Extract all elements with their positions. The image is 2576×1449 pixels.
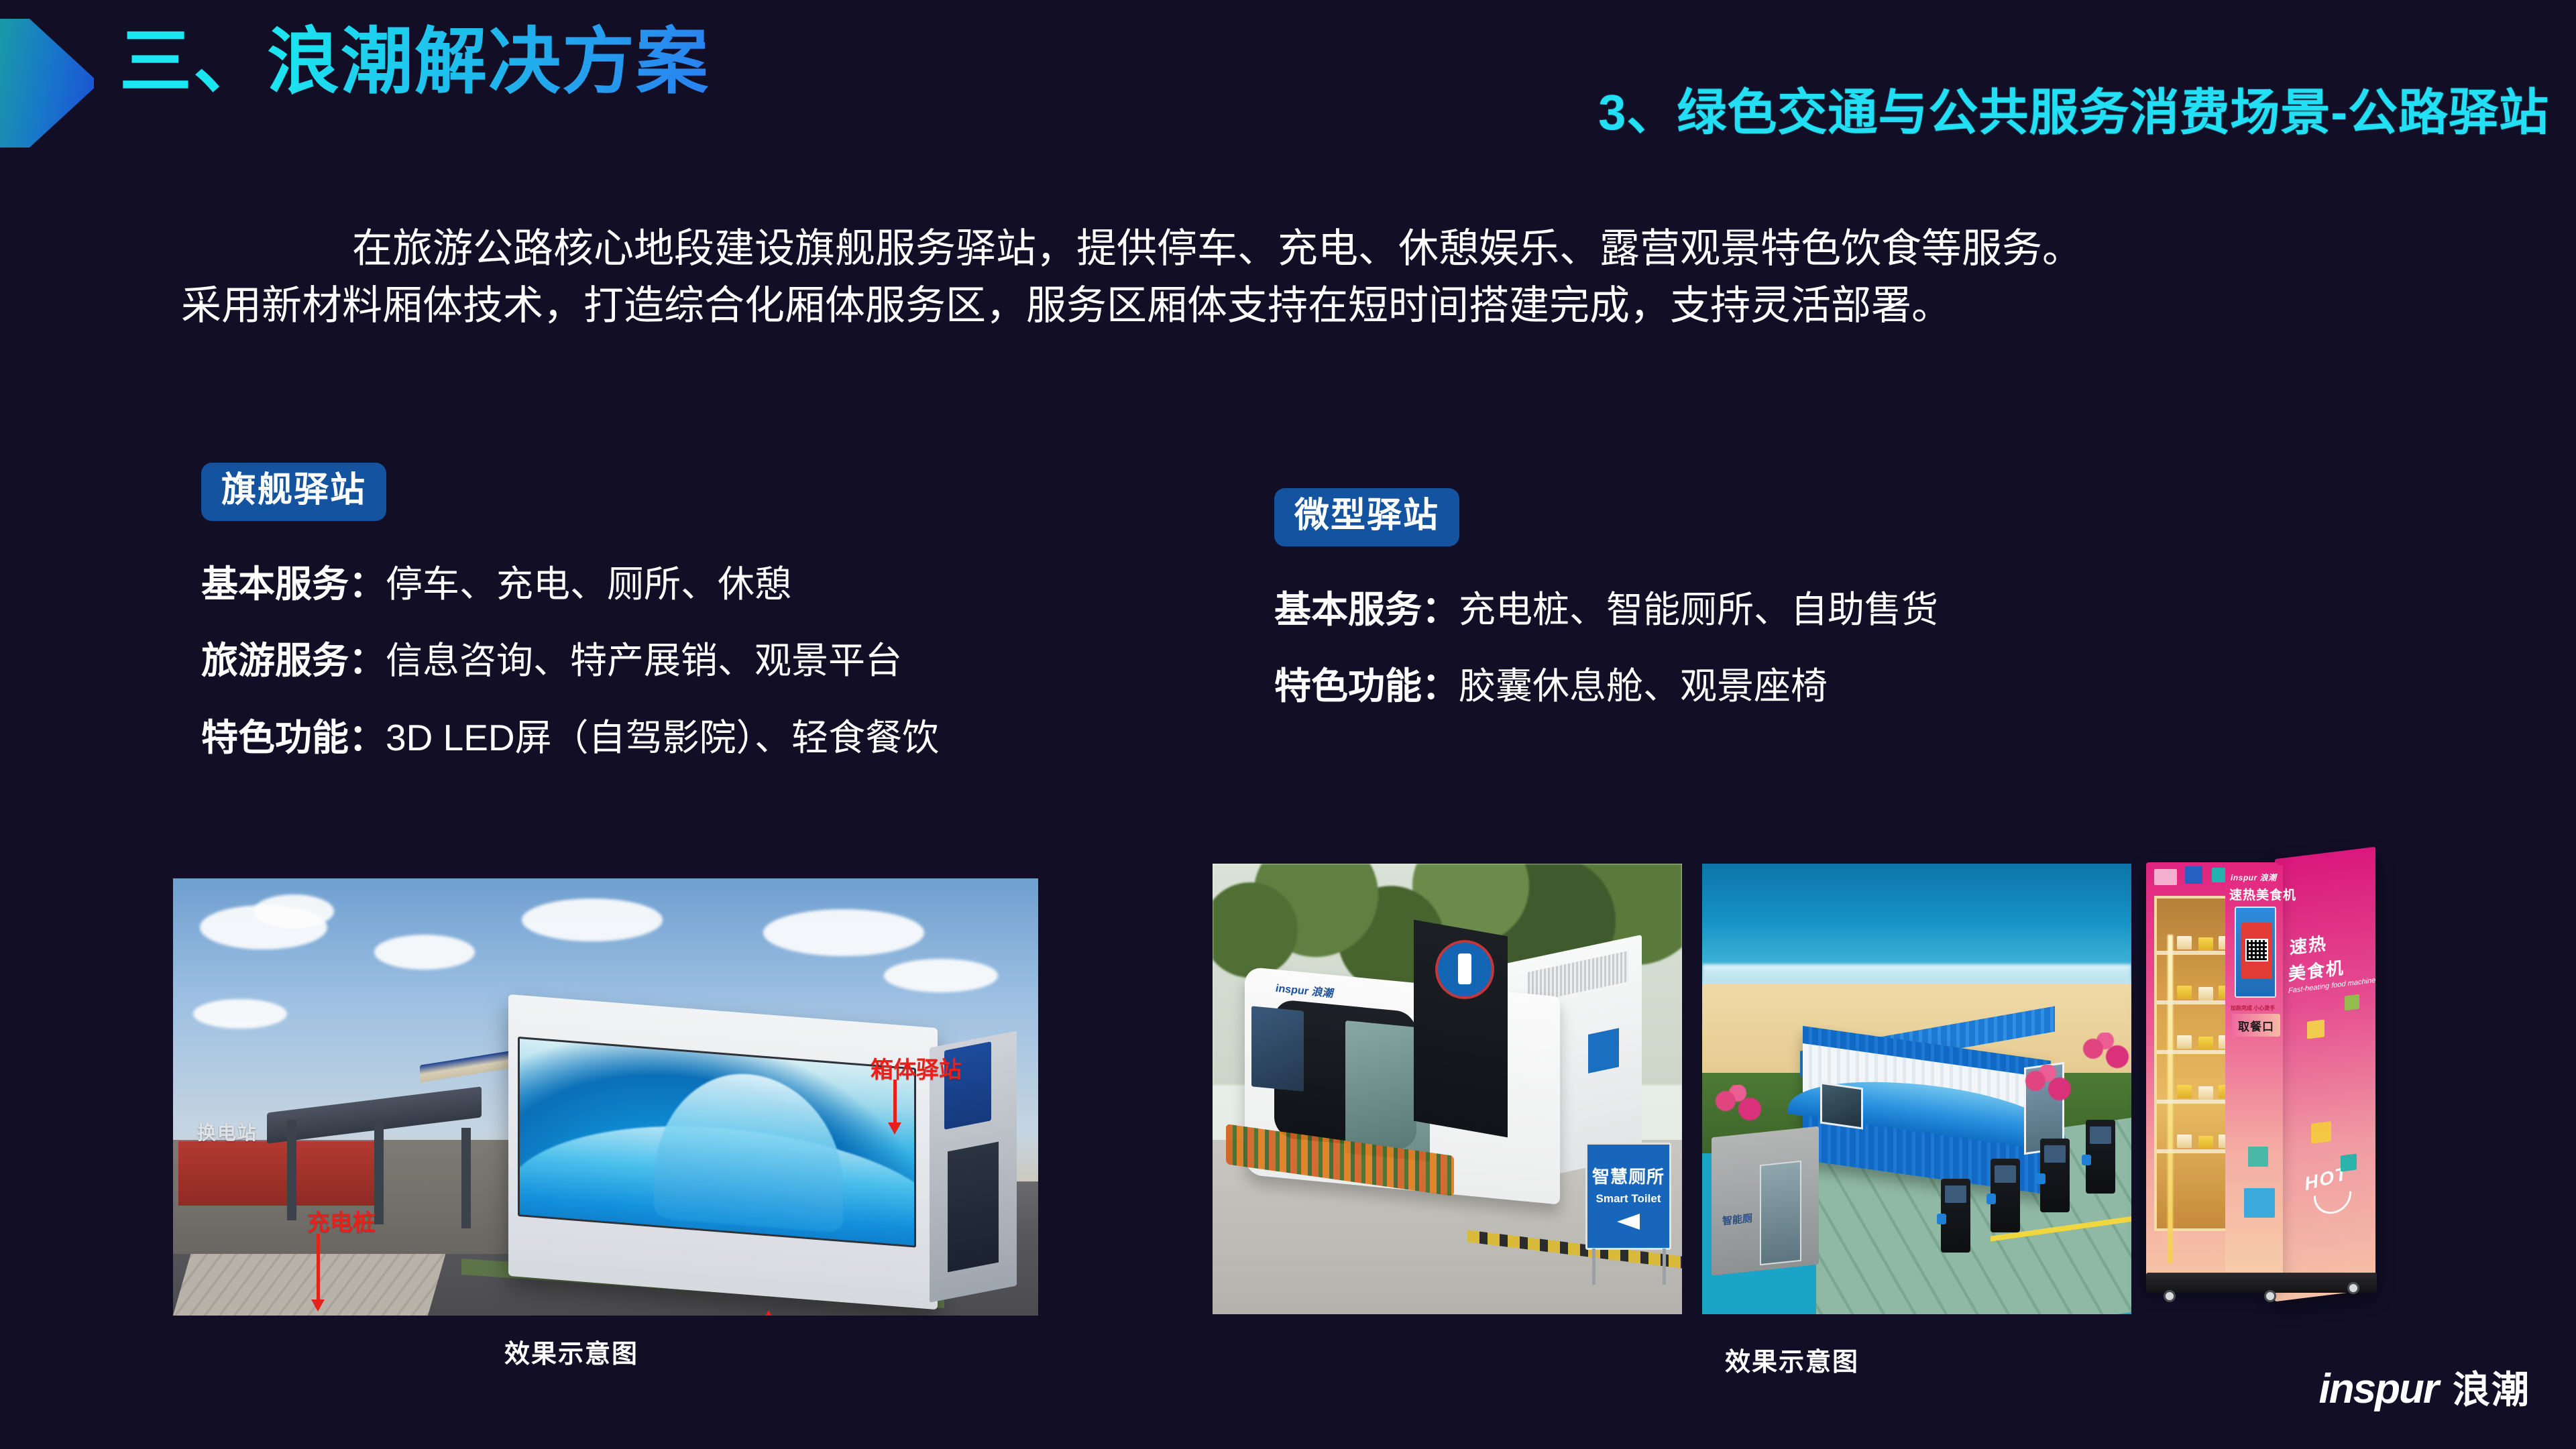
column-flagship: 旗舰驿站 基本服务：停车、充电、厕所、休憩 旅游服务：信息咨询、特产展销、观景平…: [201, 463, 1207, 792]
vending-touch-screen[interactable]: [2235, 907, 2276, 998]
charging-pile: [2086, 1120, 2115, 1194]
sign-board-legs: [1592, 1249, 1666, 1285]
flower-cluster: [2075, 1033, 2131, 1073]
vending-item: [2198, 987, 2213, 1000]
service-key: 旅游服务：: [201, 640, 386, 681]
vending-base: [2146, 1273, 2377, 1293]
vending-item: [2177, 936, 2192, 949]
corner-arrow-decoration: [0, 19, 94, 148]
inspur-logo-on-unit: inspur 浪潮: [1276, 979, 1333, 1000]
smart-toilet-sign-board: 智慧厕所 Smart Toilet: [1585, 1143, 1671, 1250]
service-list-flagship: 基本服务：停车、充电、厕所、休憩 旅游服务：信息咨询、特产展销、观景平台 特色功…: [201, 561, 1207, 761]
sign-text-cn: 智慧厕所: [1592, 1163, 1665, 1188]
service-key: 特色功能：: [201, 717, 386, 758]
service-row: 旅游服务：信息咨询、特产展销、观景平台: [201, 638, 1207, 684]
render-pillar: [287, 1120, 296, 1220]
intro-line-1: 在旅游公路核心地段建设旗舰服务驿站，提供停车、充电、休憩娱乐、露营观景特色饮食等…: [168, 220, 2401, 277]
vending-item: [2198, 937, 2213, 951]
figure-caption-beach: 效果示意图: [1725, 1341, 1859, 1378]
vending-side-panel: [2275, 847, 2375, 1301]
render-led-screen: [518, 1037, 916, 1248]
vending-item: [2198, 1037, 2213, 1050]
vending-pickup-slot[interactable]: 取餐口: [2232, 1014, 2280, 1037]
deco-square: [2311, 1121, 2331, 1144]
service-value: 停车、充电、厕所、休憩: [386, 563, 791, 605]
sign-text-en: Smart Toilet: [1596, 1192, 1661, 1206]
deco-square: [2185, 866, 2202, 884]
service-key: 基本服务：: [201, 563, 386, 605]
render-pillar: [461, 1128, 471, 1228]
charging-pile: [1991, 1159, 2020, 1232]
toilet-sign-glyph-icon: [1458, 953, 1471, 984]
service-row: 基本服务：充电桩、智能厕所、自助售货: [1274, 587, 2320, 633]
deco-square: [2154, 869, 2177, 885]
vending-light-tube: [2168, 935, 2173, 1263]
left-arrow-icon: [1617, 1214, 1640, 1230]
caster-wheel: [2164, 1290, 2176, 1302]
page-subtitle: 3、绿色交通与公共服务消费场景-公路驿站: [1598, 72, 2549, 144]
badge-flagship: 旗舰驿站: [201, 463, 386, 521]
figure-flagship-render: 换电站 充电桩 箱体驿站 3DLED高清屏（自驾影院）: [173, 878, 1038, 1316]
led-wave-graphic: [654, 1067, 843, 1233]
vending-side-title-1: 速热: [2290, 930, 2327, 960]
cloud-shape: [884, 959, 998, 992]
render-swap-station-label: 换电站: [197, 1118, 258, 1145]
service-value: 胶囊休息舱、观景座椅: [1459, 665, 1828, 707]
deco-square: [2244, 1188, 2275, 1218]
page-title: 三、浪潮解决方案: [119, 20, 710, 103]
service-value: 充电桩、智能厕所、自助售货: [1459, 589, 1938, 630]
deco-square: [2248, 1147, 2268, 1167]
deco-square: [2341, 1154, 2357, 1172]
service-value: 信息咨询、特产展销、观景平台: [386, 640, 902, 681]
slide-root: 三、浪潮解决方案 3、绿色交通与公共服务消费场景-公路驿站 在旅游公路核心地段建…: [0, 0, 2576, 1449]
caster-wheel: [2347, 1282, 2359, 1294]
badge-micro: 微型驿站: [1274, 488, 1459, 546]
charging-pile: [1941, 1179, 1970, 1253]
service-list-micro: 基本服务：充电桩、智能厕所、自助售货 特色功能：胶囊休息舱、观景座椅: [1274, 587, 2320, 710]
vending-item: [2177, 986, 2192, 999]
render-pillar: [374, 1124, 384, 1224]
vending-item: [2198, 1136, 2213, 1149]
vending-item: [2177, 1035, 2192, 1049]
vending-item: [2177, 1135, 2192, 1148]
column-micro: 微型驿站 基本服务：充电桩、智能厕所、自助售货 特色功能：胶囊休息舱、观景座椅: [1274, 488, 2320, 740]
cloud-shape: [254, 894, 334, 928]
service-key: 特色功能：: [1274, 665, 1459, 707]
annotation-charging-pile: 充电桩: [307, 1204, 376, 1237]
toilet-info-screen: [1251, 1006, 1304, 1092]
cloud-shape: [522, 899, 663, 941]
caster-wheel: [2264, 1290, 2276, 1302]
vending-warning-text: 加热完成 小心烫手: [2231, 1004, 2275, 1012]
container-window: [1820, 1082, 1863, 1130]
figure-vending-machine-photo: inspur 浪潮 速热美食机 加热完成 小心烫手 取餐口 速热 美食机 Fas…: [2146, 853, 2381, 1316]
figure-smart-toilet-photo: inspur 浪潮 智慧厕所 Smart Toilet: [1213, 864, 1682, 1314]
figure-beach-container-photo: 智能厕: [1702, 864, 2131, 1314]
intro-line-2: 采用新材料厢体技术，打造综合化厢体服务区，服务区厢体支持在短时间搭建完成，支持灵…: [168, 277, 2401, 334]
vending-title: 速热美食机: [2229, 885, 2296, 903]
cloud-shape: [193, 999, 287, 1029]
brand-logo: inspur 浪潮: [2319, 1360, 2530, 1414]
service-row: 基本服务：停车、充电、厕所、休憩: [201, 561, 1207, 607]
flower-cluster: [2017, 1065, 2078, 1105]
vending-item: [2177, 1085, 2192, 1098]
deco-square: [2307, 1019, 2325, 1039]
vending-item: [2198, 1086, 2213, 1100]
cloud-shape: [763, 909, 924, 956]
cloud-shape: [374, 935, 475, 970]
flower-cluster: [1707, 1085, 1768, 1125]
annotation-container-station: 箱体驿站: [871, 1051, 962, 1084]
kiosk-glass-door: [1760, 1161, 1801, 1266]
brand-logo-en: inspur: [2319, 1365, 2438, 1413]
render-swap-station-container: [178, 1141, 380, 1206]
annotation-arrow-container-station: [893, 1080, 897, 1124]
render-glass-door: [948, 1142, 999, 1273]
intro-paragraph: 在旅游公路核心地段建设旗舰服务驿站，提供停车、充电、休憩娱乐、露营观景特色饮食等…: [168, 220, 2401, 334]
toilet-wc-sign: [1588, 1028, 1619, 1074]
qr-code-icon: [2245, 939, 2268, 962]
figure-caption-flagship: 效果示意图: [504, 1333, 638, 1370]
service-value: 3D LED屏（自驾影院）、轻食餐饮: [386, 717, 939, 758]
brand-logo-cn: 浪潮: [2453, 1360, 2530, 1414]
render-container-station: [508, 994, 938, 1310]
deco-square: [2345, 994, 2359, 1011]
annotation-arrow-charging-pile: [317, 1234, 320, 1301]
service-row: 特色功能：胶囊休息舱、观景座椅: [1274, 663, 2320, 709]
inspur-logo-on-vending: inspur 浪潮: [2231, 872, 2277, 883]
charging-pile: [2040, 1139, 2070, 1212]
service-row: 特色功能：3D LED屏（自驾影院）、轻食餐饮: [201, 715, 1207, 761]
service-key: 基本服务：: [1274, 589, 1459, 630]
pickup-slot-label: 取餐口: [2238, 1017, 2274, 1034]
